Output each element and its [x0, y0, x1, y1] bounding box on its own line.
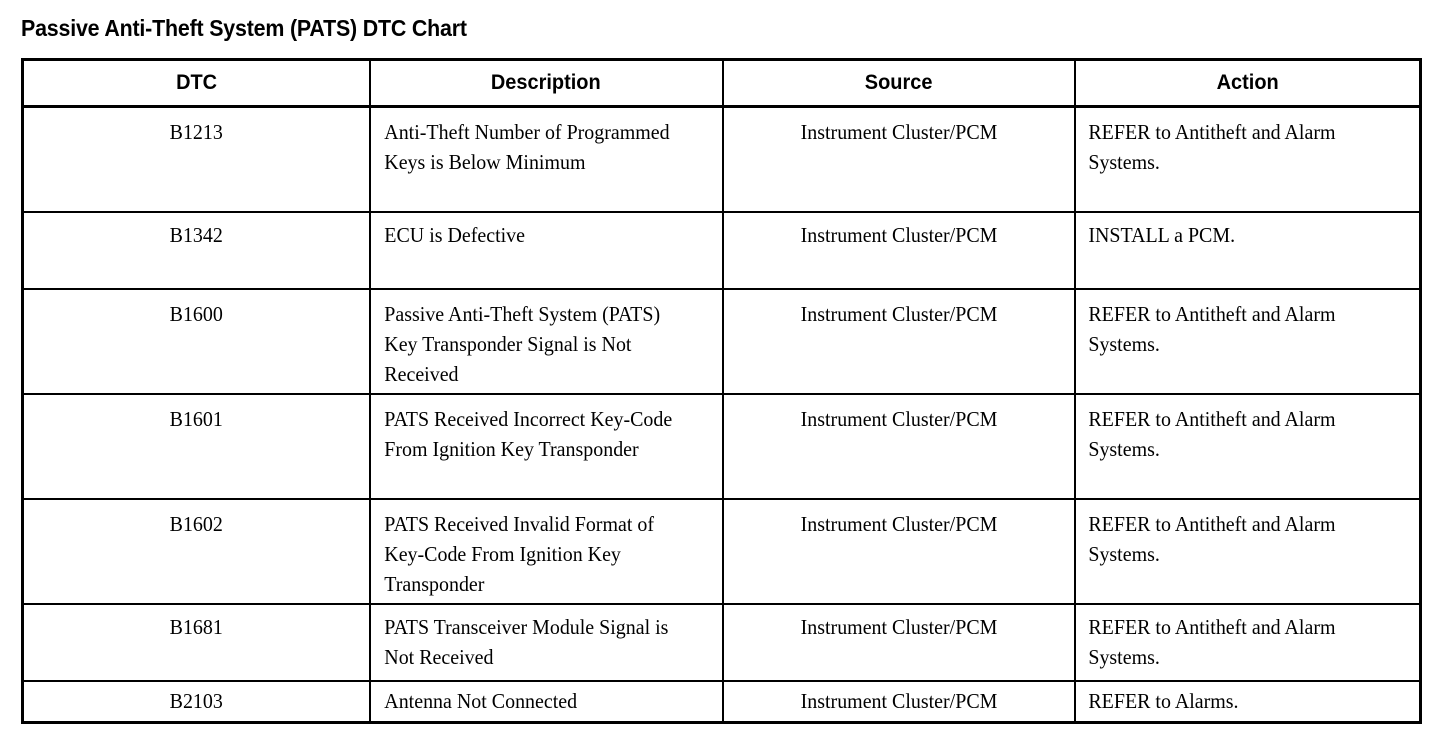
cell-action: REFER to Antitheft and Alarm Systems. — [1075, 604, 1421, 681]
table-row: B1600 Passive Anti-Theft System (PATS) K… — [23, 289, 1421, 394]
dtc-code: B1602 — [33, 500, 360, 543]
cell-action: REFER to Antitheft and Alarm Systems. — [1075, 499, 1421, 604]
dtc-description: Passive Anti-Theft System (PATS) Key Tra… — [371, 290, 704, 393]
dtc-description: PATS Received Invalid Format of Key-Code… — [371, 500, 704, 603]
cell-description: PATS Transceiver Module Signal is Not Re… — [370, 604, 723, 681]
table-row: B1601 PATS Received Incorrect Key-Code F… — [23, 394, 1421, 499]
cell-description: Antenna Not Connected — [370, 681, 723, 723]
dtc-action: REFER to Alarms. — [1076, 682, 1402, 718]
document-page: Passive Anti-Theft System (PATS) DTC Cha… — [0, 0, 1456, 742]
dtc-source: Instrument Cluster/PCM — [732, 395, 1065, 438]
column-header-dtc: DTC — [23, 60, 370, 107]
cell-dtc: B1601 — [23, 394, 370, 499]
dtc-action: REFER to Antitheft and Alarm Systems. — [1076, 500, 1402, 573]
dtc-code: B2103 — [33, 682, 360, 718]
dtc-action: REFER to Antitheft and Alarm Systems. — [1076, 290, 1402, 363]
table-header-row: DTC Description Source Action — [23, 60, 1421, 107]
table-row: B1213 Anti-Theft Number of Programmed Ke… — [23, 107, 1421, 212]
cell-action: REFER to Antitheft and Alarm Systems. — [1075, 289, 1421, 394]
cell-description: Passive Anti-Theft System (PATS) Key Tra… — [370, 289, 723, 394]
cell-action: REFER to Antitheft and Alarm Systems. — [1075, 107, 1421, 212]
dtc-description: Anti-Theft Number of Programmed Keys is … — [371, 108, 704, 181]
column-header-source-label: Source — [865, 71, 933, 95]
dtc-source: Instrument Cluster/PCM — [732, 213, 1065, 254]
cell-action: INSTALL a PCM. — [1075, 212, 1421, 289]
cell-source: Instrument Cluster/PCM — [723, 107, 1075, 212]
table-body: B1213 Anti-Theft Number of Programmed Ke… — [23, 107, 1421, 723]
column-header-action: Action — [1075, 60, 1421, 107]
dtc-source: Instrument Cluster/PCM — [732, 605, 1065, 646]
dtc-description: PATS Transceiver Module Signal is Not Re… — [371, 605, 704, 676]
dtc-source: Instrument Cluster/PCM — [732, 108, 1065, 151]
cell-source: Instrument Cluster/PCM — [723, 604, 1075, 681]
page-title: Passive Anti-Theft System (PATS) DTC Cha… — [21, 14, 467, 42]
cell-action: REFER to Antitheft and Alarm Systems. — [1075, 394, 1421, 499]
dtc-source: Instrument Cluster/PCM — [732, 500, 1065, 543]
cell-description: Anti-Theft Number of Programmed Keys is … — [370, 107, 723, 212]
cell-dtc: B1213 — [23, 107, 370, 212]
cell-description: PATS Received Invalid Format of Key-Code… — [370, 499, 723, 604]
cell-dtc: B1342 — [23, 212, 370, 289]
pats-dtc-table: DTC Description Source Action B1213 Anti… — [21, 58, 1422, 724]
dtc-action: REFER to Antitheft and Alarm Systems. — [1076, 108, 1402, 181]
column-header-description-label: Description — [491, 71, 601, 95]
cell-source: Instrument Cluster/PCM — [723, 212, 1075, 289]
cell-source: Instrument Cluster/PCM — [723, 394, 1075, 499]
dtc-description: ECU is Defective — [371, 213, 704, 254]
dtc-source: Instrument Cluster/PCM — [732, 682, 1065, 718]
column-header-source: Source — [723, 60, 1075, 107]
column-header-dtc-label: DTC — [176, 71, 217, 95]
table-header: DTC Description Source Action — [23, 60, 1421, 107]
cell-source: Instrument Cluster/PCM — [723, 499, 1075, 604]
dtc-code: B1681 — [33, 605, 360, 646]
dtc-description: PATS Received Incorrect Key-Code From Ig… — [371, 395, 704, 468]
cell-source: Instrument Cluster/PCM — [723, 289, 1075, 394]
dtc-source: Instrument Cluster/PCM — [732, 290, 1065, 333]
dtc-action: REFER to Antitheft and Alarm Systems. — [1076, 395, 1402, 468]
dtc-code: B1213 — [33, 108, 360, 151]
cell-dtc: B1681 — [23, 604, 370, 681]
cell-action: REFER to Alarms. — [1075, 681, 1421, 723]
dtc-action: REFER to Antitheft and Alarm Systems. — [1076, 605, 1402, 676]
dtc-action: INSTALL a PCM. — [1076, 213, 1402, 254]
dtc-description: Antenna Not Connected — [371, 682, 704, 718]
cell-dtc: B2103 — [23, 681, 370, 723]
column-header-action-label: Action — [1216, 71, 1278, 95]
cell-dtc: B1602 — [23, 499, 370, 604]
table-row: B1681 PATS Transceiver Module Signal is … — [23, 604, 1421, 681]
column-header-description: Description — [370, 60, 723, 107]
cell-description: ECU is Defective — [370, 212, 723, 289]
table-row: B2103 Antenna Not Connected Instrument C… — [23, 681, 1421, 723]
cell-description: PATS Received Incorrect Key-Code From Ig… — [370, 394, 723, 499]
dtc-code: B1601 — [33, 395, 360, 438]
dtc-code: B1600 — [33, 290, 360, 333]
table-row: B1342 ECU is Defective Instrument Cluste… — [23, 212, 1421, 289]
cell-source: Instrument Cluster/PCM — [723, 681, 1075, 723]
table-row: B1602 PATS Received Invalid Format of Ke… — [23, 499, 1421, 604]
dtc-code: B1342 — [33, 213, 360, 254]
cell-dtc: B1600 — [23, 289, 370, 394]
